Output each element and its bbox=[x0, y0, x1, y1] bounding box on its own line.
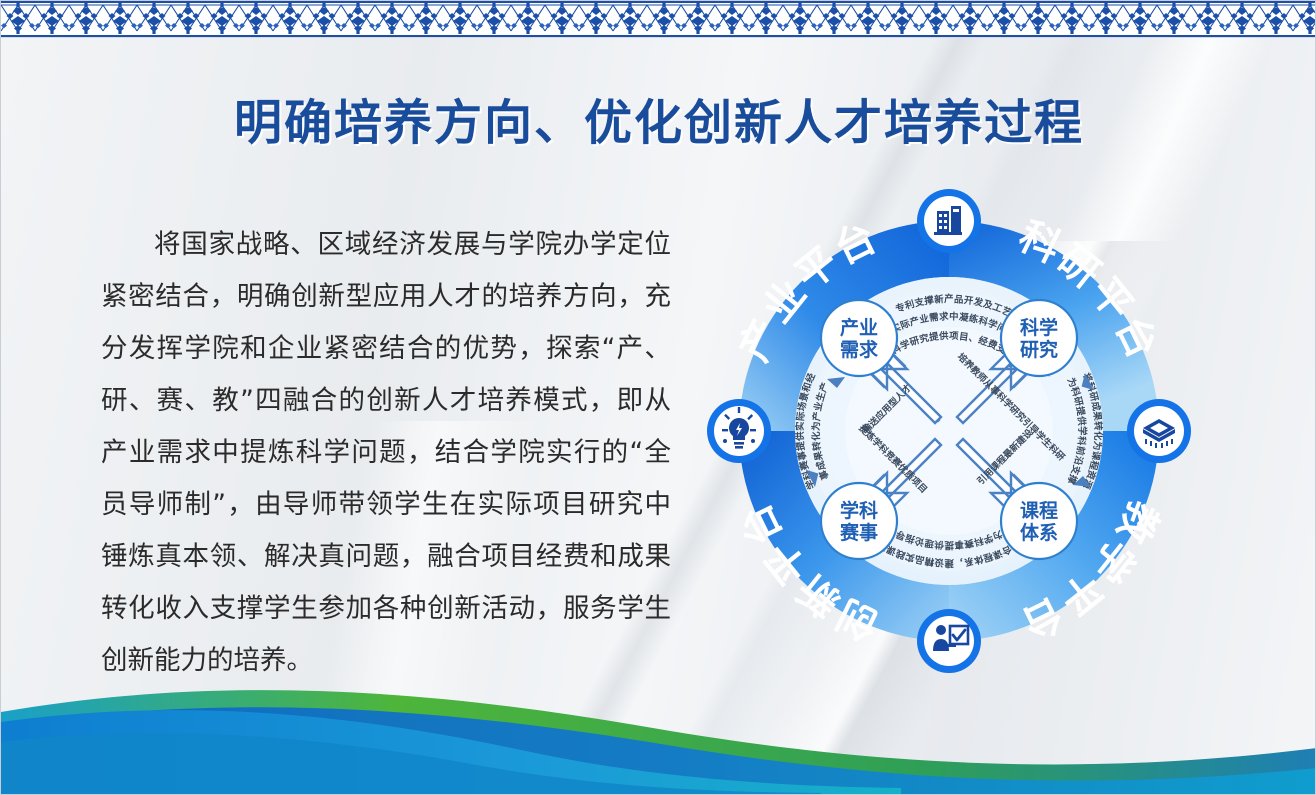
node-science-line1: 科学 bbox=[1020, 316, 1058, 339]
node-curriculum[interactable]: 课程 体系 bbox=[1001, 483, 1077, 559]
node-science-line2: 研究 bbox=[1020, 338, 1058, 361]
node-science[interactable]: 科学 研究 bbox=[1001, 300, 1077, 376]
body-paragraph: 将国家战略、区域经济发展与学院办学定位紧密结合，明确创新型应用人才的培养方向，充… bbox=[101, 219, 671, 687]
node-demand[interactable]: 产业 需求 bbox=[821, 300, 897, 376]
node-contest[interactable]: 学科 赛事 bbox=[821, 483, 897, 559]
platform-icon-industry[interactable] bbox=[917, 189, 981, 253]
platform-icon-research[interactable] bbox=[1127, 399, 1191, 463]
four-platform-circular-diagram: 产业平台 科研平台 教学平台 创新平台 科研论文、专利支撑新产品开发及工艺优化改… bbox=[691, 173, 1207, 689]
node-contest-line1: 学科 bbox=[840, 499, 878, 522]
platform-icon-innovation[interactable] bbox=[707, 399, 771, 463]
ethnic-pattern-border bbox=[1, 1, 1316, 38]
node-contest-line2: 赛事 bbox=[839, 521, 878, 544]
node-demand-line1: 产业 bbox=[840, 316, 878, 339]
page-title: 明确培养方向、优化创新人才培养过程 bbox=[1, 83, 1316, 153]
node-curriculum-line2: 体系 bbox=[1020, 521, 1058, 544]
node-curriculum-line1: 课程 bbox=[1020, 500, 1058, 522]
poster-root: 明确培养方向、优化创新人才培养过程 将国家战略、区域经济发展与学院办学定位紧密结… bbox=[0, 0, 1316, 795]
bottom-wave-decoration bbox=[1, 664, 1316, 794]
node-demand-line2: 需求 bbox=[840, 338, 879, 361]
